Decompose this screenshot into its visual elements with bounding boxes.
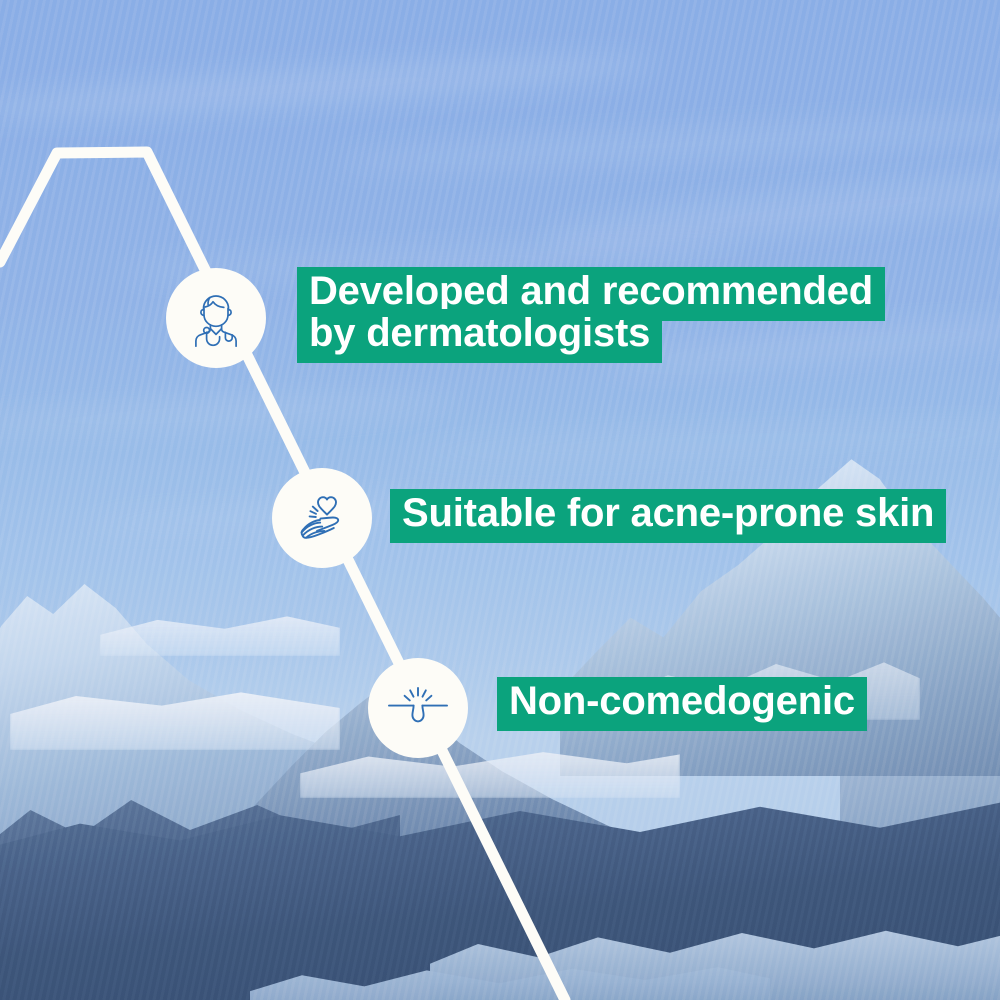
infographic-scene: Developed and recommended by dermatologi… <box>0 0 1000 1000</box>
benefit-label: Suitable for acne-prone skin <box>390 489 946 543</box>
benefit-badge-dermatologist[interactable] <box>166 268 266 368</box>
skin-pore-follicle-icon <box>384 674 452 742</box>
benefit-badge-acne-prone[interactable] <box>272 468 372 568</box>
benefit-label: Non-comedogenic <box>497 677 867 731</box>
benefit-badge-non-comedogenic[interactable] <box>368 658 468 758</box>
benefit-label: Developed and recommended by dermatologi… <box>297 267 885 363</box>
benefit-text-dermatologist: Developed and recommended by dermatologi… <box>297 270 885 355</box>
hand-holding-heart-icon <box>289 485 355 551</box>
benefit-text-non-comedogenic: Non-comedogenic <box>497 680 867 722</box>
doctor-stethoscope-icon <box>184 286 248 350</box>
benefit-text-acne-prone: Suitable for acne-prone skin <box>390 492 946 534</box>
